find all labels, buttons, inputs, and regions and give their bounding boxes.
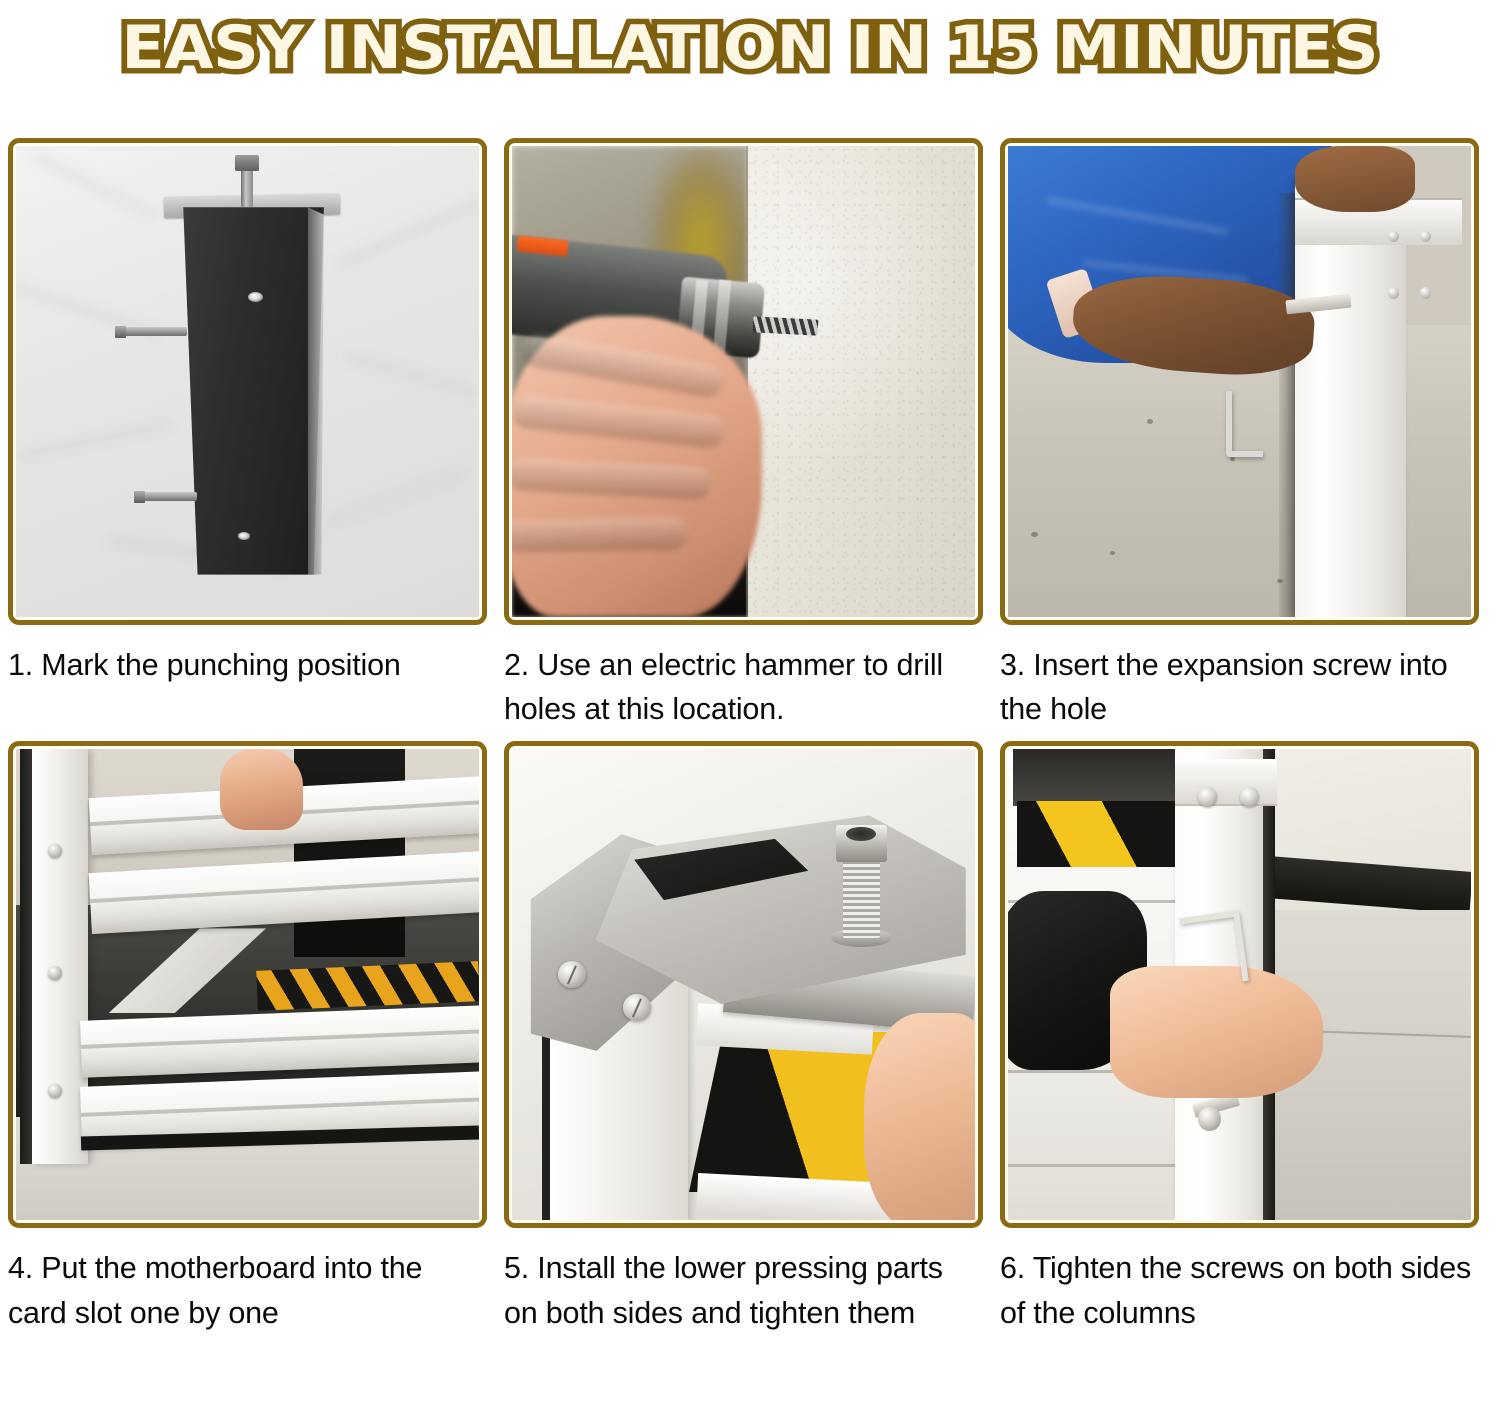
installer-hand	[864, 1013, 975, 1220]
step-photo-1	[16, 146, 479, 617]
column-template-body	[180, 207, 324, 574]
step-caption-1: 1. Mark the punching position	[8, 643, 500, 687]
step-card-4: 4. Put the motherboard into the card slo…	[8, 731, 500, 1334]
installer-hand	[1110, 966, 1323, 1098]
step-photo-frame-1	[8, 138, 487, 625]
steps-grid: 1. Mark the punching position	[8, 138, 1492, 1335]
installer-hand	[220, 749, 303, 829]
step-card-2: 2. Use an electric hammer to drill holes…	[504, 138, 996, 731]
bracket-screw	[558, 961, 586, 987]
column-screw	[1198, 787, 1217, 807]
step-photo-4	[16, 749, 479, 1220]
step-photo-frame-6	[1000, 741, 1479, 1228]
bracket-screw	[623, 994, 651, 1020]
page-title: EASY INSTALLATION IN 15 MINUTES	[122, 18, 1379, 78]
step-photo-frame-3	[1000, 138, 1479, 625]
step-photo-6	[1008, 749, 1471, 1220]
step-photo-frame-4	[8, 741, 487, 1228]
step-photo-2	[512, 146, 975, 617]
column-screw	[1240, 787, 1259, 807]
side-bolt-lower	[136, 492, 196, 501]
drill-bit	[752, 316, 818, 335]
step-card-6: 6. Tighten the screws on both sides of t…	[1000, 731, 1492, 1334]
header-banner: EASY INSTALLATION IN 15 MINUTES	[0, 0, 1500, 95]
column-screw	[1198, 1107, 1221, 1131]
hex-bolt-shaft	[843, 858, 880, 938]
textured-wall	[748, 146, 975, 617]
allen-key-icon	[1226, 391, 1263, 457]
step-card-5: 5. Install the lower pressing parts on b…	[504, 731, 996, 1334]
step-photo-3	[1008, 146, 1471, 617]
step-caption-4: 4. Put the motherboard into the card slo…	[8, 1246, 500, 1334]
step-caption-2: 2. Use an electric hammer to drill holes…	[504, 643, 996, 731]
step-card-3: 3. Insert the expansion screw into the h…	[1000, 138, 1492, 731]
allen-key-icon	[1179, 910, 1248, 988]
step-photo-frame-5	[504, 741, 983, 1228]
side-bolt-upper	[118, 327, 187, 336]
worker-upper-hand	[1295, 146, 1415, 212]
hazard-stripe-board	[1017, 801, 1174, 867]
step-caption-6: 6. Tighten the screws on both sides of t…	[1000, 1246, 1492, 1334]
step-photo-frame-2	[504, 138, 983, 625]
step-caption-3: 3. Insert the expansion screw into the h…	[1000, 643, 1492, 731]
column-with-card-slots	[32, 749, 88, 1163]
step-card-1: 1. Mark the punching position	[8, 138, 500, 731]
step-caption-5: 5. Install the lower pressing parts on b…	[504, 1246, 996, 1334]
installation-guide-page: EASY INSTALLATION IN 15 MINUTES	[0, 0, 1500, 1403]
step-photo-5	[512, 749, 975, 1220]
